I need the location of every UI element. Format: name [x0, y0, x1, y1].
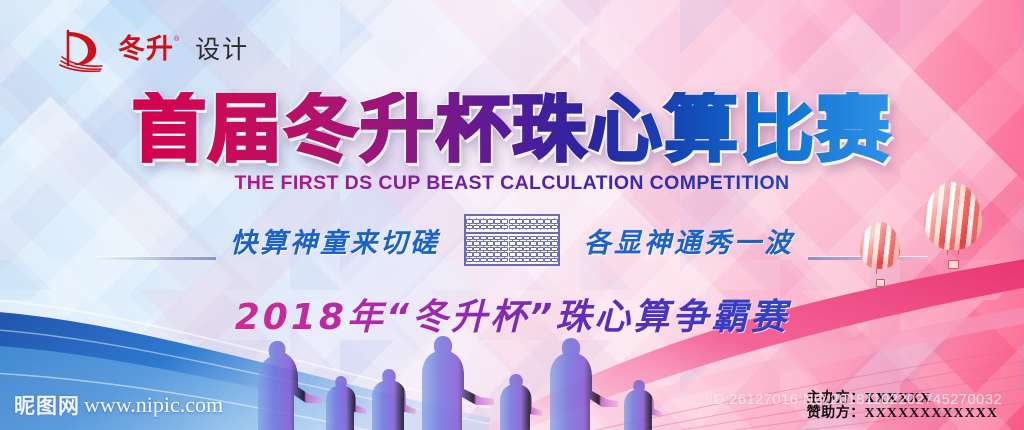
slogan-right: 各显神通秀一波 — [570, 221, 808, 260]
page-title: 首届冬升杯珠心算比赛 — [132, 92, 892, 166]
ds-swoosh-logo-icon — [56, 25, 108, 73]
brand-logo: 冬升 ® 设计 — [56, 25, 249, 73]
registered-mark-icon: ® — [174, 36, 179, 43]
slogan-divider-left — [96, 256, 216, 260]
title-block: 首届冬升杯珠心算比赛 THE FIRST DS CUP BEAST CALCUL… — [0, 92, 1024, 195]
sponsor-line: 赞助方：XXXXXXXXXXXX — [807, 406, 998, 422]
hot-air-balloon-icon — [924, 182, 982, 269]
english-subtitle: THE FIRST DS CUP BEAST CALCULATION COMPE… — [0, 172, 1024, 195]
poster-canvas: 冬升 ® 设计 首届冬升杯珠心算比赛 THE FIRST DS CUP BEAS… — [0, 0, 1024, 430]
id-watermark: ID:26127016 NO:20181102202745270032 — [709, 391, 1002, 408]
logo-brand-cn: 冬升 — [118, 36, 174, 63]
hot-air-balloon-icon — [860, 222, 900, 287]
family-silhouettes — [150, 335, 710, 430]
logo-brand-sub: 设计 — [195, 37, 249, 62]
abacus-icon — [464, 214, 560, 266]
slogan-left: 快算神童来切磋 — [216, 221, 454, 260]
sponsor-value: XXXXXXXXXXXX — [865, 406, 998, 421]
site-watermark-url: www.nipic.com — [84, 392, 223, 418]
sub-headline: 2018年“冬升杯”珠心算争霸赛 — [0, 288, 1024, 340]
site-watermark: 昵图网 www.nipic.com — [14, 390, 223, 420]
site-watermark-cn: 昵图网 — [14, 390, 80, 420]
